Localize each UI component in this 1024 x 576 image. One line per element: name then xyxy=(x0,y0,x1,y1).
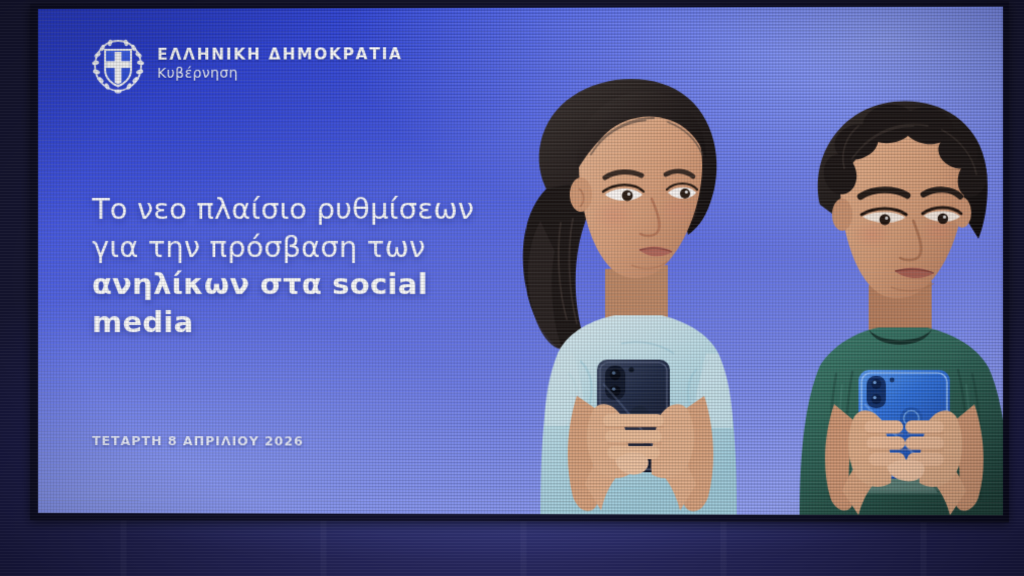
logo-line-2: Κυβέρνηση xyxy=(157,66,402,82)
girl-with-phone xyxy=(480,41,783,514)
press-briefing-scene: ΕΛΛΗΝΙΚΗ ΔΗΜΟΚΡΑΤΙΑ Κυβέρνηση Το νεο πλα… xyxy=(0,0,1024,576)
greek-coat-of-arms-icon xyxy=(90,35,146,95)
headline-line-3: ανηλίκων στα social media xyxy=(92,266,524,342)
backdrop-panel-seams xyxy=(0,520,1024,576)
slide-headline: Το νεο πλαίσιο ρυθμίσεων για την πρόσβασ… xyxy=(92,191,524,342)
boy-with-phone xyxy=(763,71,1003,515)
government-logo-lockup: ΕΛΛΗΝΙΚΗ ΔΗΜΟΚΡΑΤΙΑ Κυβέρνηση xyxy=(90,34,403,95)
led-screen: ΕΛΛΗΝΙΚΗ ΔΗΜΟΚΡΑΤΙΑ Κυβέρνηση Το νεο πλα… xyxy=(38,7,1003,516)
logo-line-1: ΕΛΛΗΝΙΚΗ ΔΗΜΟΚΡΑΤΙΑ xyxy=(157,47,402,65)
slide-date: ΤΕΤΑΡΤΗ 8 ΑΠΡΙΛΙΟΥ 2026 xyxy=(92,433,304,448)
headline-line-1: Το νεο πλαίσιο ρυθμίσεων xyxy=(92,191,524,229)
headline-line-2: για την πρόσβαση των xyxy=(92,229,524,267)
led-wall-bezel: ΕΛΛΗΝΙΚΗ ΔΗΜΟΚΡΑΤΙΑ Κυβέρνηση Το νεο πλα… xyxy=(30,2,1009,523)
